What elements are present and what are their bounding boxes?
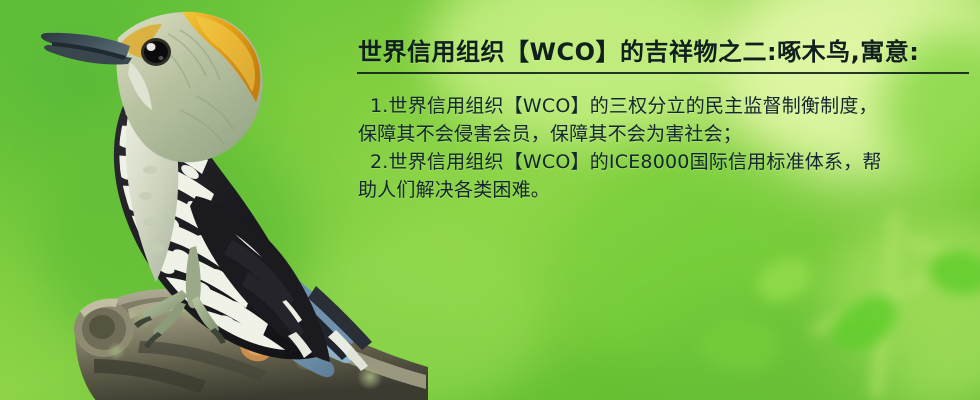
banner-headline: 世界信用组织【WCO】的吉祥物之二:啄木鸟,寓意: — [358, 32, 919, 67]
list-item-2-line-2: 助人们解决各类困难。 — [352, 176, 972, 204]
list-item-1-line-2: 保障其不会侵害会员，保障其不会为害社会； — [352, 120, 972, 148]
banner-text-panel: 世界信用组织【WCO】的吉祥物之二:啄木鸟,寓意: 1.世界信用组织【WCO】的… — [352, 24, 972, 224]
list-item-2-line-1: 2.世界信用组织【WCO】的ICE8000国际信用标准体系，帮 — [352, 148, 972, 176]
bird-head — [41, 12, 263, 163]
bird-eye — [141, 38, 171, 66]
list-item-1-line-1: 1.世界信用组织【WCO】的三权分立的民主监督制衡制度， — [352, 92, 972, 120]
banner-body-list: 1.世界信用组织【WCO】的三权分立的民主监督制衡制度， 保障其不会侵害会员，保… — [352, 92, 972, 204]
headline-divider — [357, 72, 969, 74]
wco-mascot-banner: 世界信用组织【WCO】的吉祥物之二:啄木鸟,寓意: 1.世界信用组织【WCO】的… — [0, 0, 980, 400]
